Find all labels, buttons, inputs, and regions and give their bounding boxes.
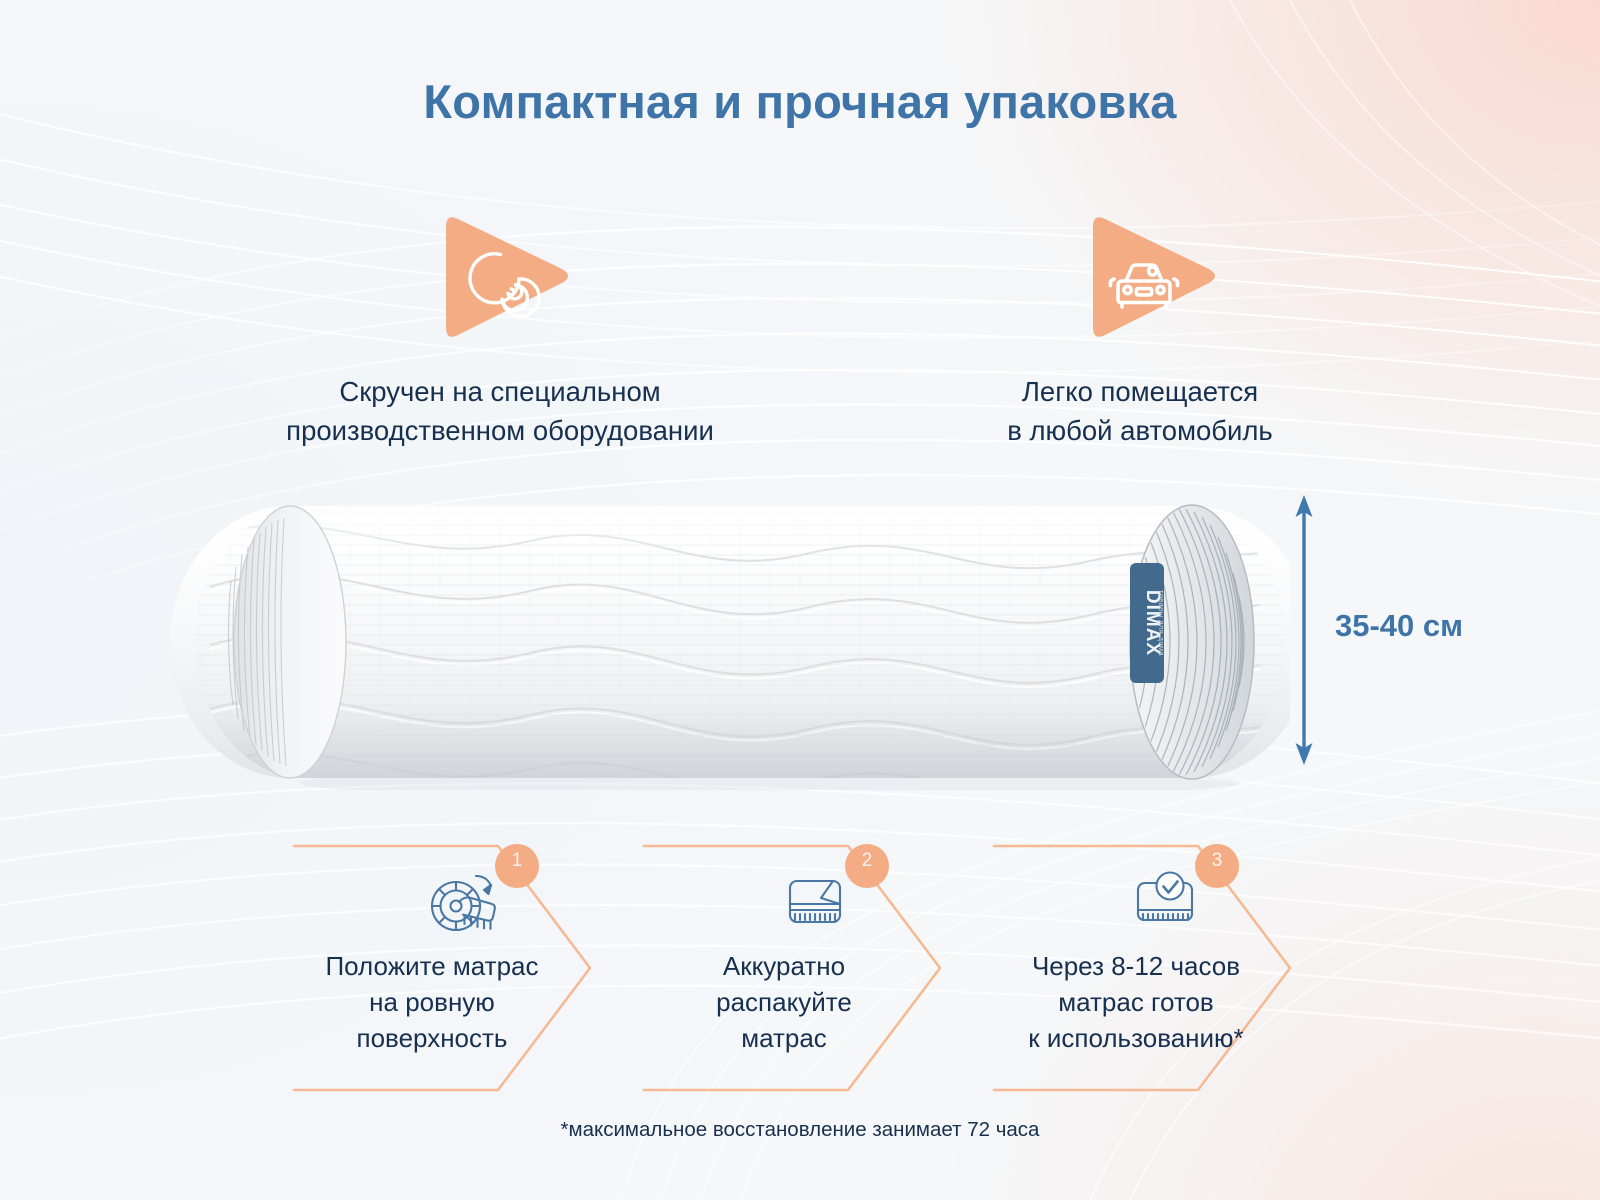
- rolled-mattress-image: DIMAX товары для дома: [170, 495, 1290, 790]
- step-label: Положите матрас на ровную поверхность: [282, 948, 582, 1056]
- step-number-badge: 2: [854, 850, 880, 872]
- brand-tag: DIMAX товары для дома: [1130, 563, 1166, 683]
- steps-row: 1 Положите матрас на ро: [290, 840, 1310, 1095]
- mattress-check-icon: [1126, 868, 1204, 940]
- rolled-mattress-arrow-icon: [426, 868, 504, 940]
- car-icon: [1076, 202, 1226, 352]
- feature-caption: Легко помещается в любой автомобиль: [860, 372, 1420, 450]
- step-label: Через 8-12 часов матрас готов к использо…: [976, 948, 1296, 1056]
- spiral-roll-icon: [429, 202, 579, 352]
- svg-text:товары для дома: товары для дома: [1157, 590, 1166, 656]
- step-number-badge: 1: [504, 850, 530, 872]
- footnote-text: *максимальное восстановление занимает 72…: [0, 1118, 1600, 1142]
- step-number-badge: 3: [1204, 850, 1230, 872]
- step-label: Аккуратно распакуйте матрас: [634, 948, 934, 1056]
- feature-caption: Скручен на специальном производственном …: [140, 372, 860, 450]
- double-arrow-vertical-icon: [1278, 495, 1338, 765]
- step-card-2[interactable]: 2 Аккуратно распакуйте матрас: [640, 840, 990, 1095]
- feature-block-rolled: Скручен на специальном производственном …: [140, 202, 860, 450]
- step-card-3[interactable]: 3 Через 8-12 часов матрас готов к исполь…: [990, 840, 1340, 1095]
- step-card-1[interactable]: 1 Положите матрас на ро: [290, 840, 640, 1095]
- feature-block-car: Легко помещается в любой автомобиль: [860, 202, 1420, 450]
- mattress-unpack-icon: [776, 868, 854, 940]
- infographic-canvas: Компактная и прочная упаковка Скручен на…: [0, 0, 1600, 1200]
- dimension-label: 35-40 см: [1335, 608, 1463, 644]
- page-title: Компактная и прочная упаковка: [0, 74, 1600, 129]
